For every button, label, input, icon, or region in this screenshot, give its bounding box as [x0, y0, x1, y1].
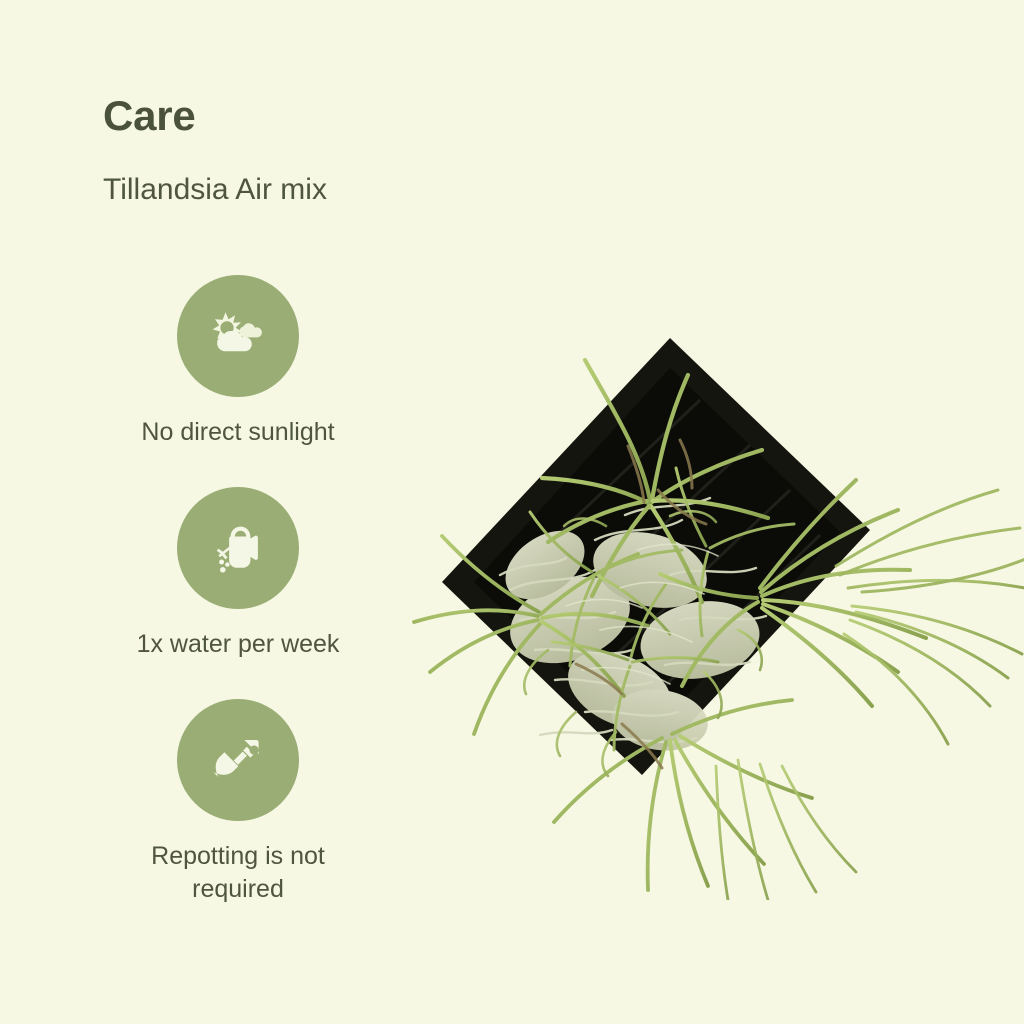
page-title: Care: [103, 95, 523, 137]
watering-can-icon: [206, 517, 270, 579]
care-info-card: Care Tillandsia Air mix: [0, 0, 1024, 1024]
care-item-sunlight: No direct sunlight: [118, 275, 358, 449]
care-item-label-water: 1x water per week: [123, 628, 353, 661]
plant-product-photo: [370, 320, 1024, 900]
care-instruction-list: No direct sunlight: [118, 275, 358, 906]
care-item-repotting: Repotting is not required: [118, 699, 358, 906]
care-item-label-sunlight: No direct sunlight: [123, 416, 353, 449]
sun-behind-cloud-icon: [207, 309, 269, 363]
header: Care Tillandsia Air mix: [103, 95, 523, 205]
shovel-icon: [209, 731, 267, 789]
care-icon-circle-water: [177, 487, 299, 609]
care-icon-circle-sunlight: [177, 275, 299, 397]
care-item-label-repotting: Repotting is not required: [123, 840, 353, 906]
care-item-water: 1x water per week: [118, 487, 358, 661]
care-icon-circle-repotting: [177, 699, 299, 821]
plant-name-subtitle: Tillandsia Air mix: [103, 137, 523, 205]
